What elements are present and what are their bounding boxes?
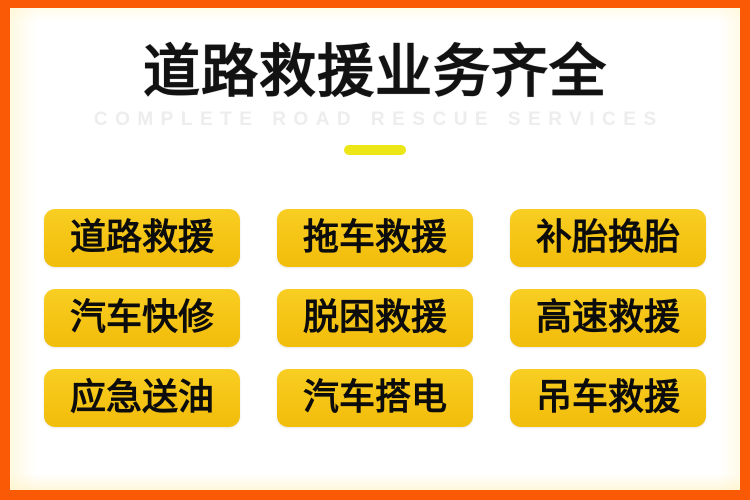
accent-bar	[344, 145, 406, 155]
service-button-label: 拖车救援	[303, 218, 447, 258]
header-block: 道路救援业务齐全 COMPLETE ROAD RESCUE SERVICES	[10, 8, 740, 155]
service-button-label: 道路救援	[70, 218, 214, 258]
service-button-highway-rescue[interactable]: 高速救援	[510, 289, 706, 347]
service-button-label: 汽车快修	[70, 298, 214, 338]
service-button-emergency-fuel-delivery[interactable]: 应急送油	[44, 369, 240, 427]
service-button-road-rescue[interactable]: 道路救援	[44, 209, 240, 267]
poster-canvas: 道路救援业务齐全 COMPLETE ROAD RESCUE SERVICES 道…	[10, 8, 740, 490]
service-button-tow-rescue[interactable]: 拖车救援	[277, 209, 473, 267]
page-subtitle: COMPLETE ROAD RESCUE SERVICES	[10, 109, 740, 131]
service-button-label: 补胎换胎	[536, 218, 680, 258]
service-button-label: 吊车救援	[536, 378, 680, 418]
service-button-crane-rescue[interactable]: 吊车救援	[510, 369, 706, 427]
service-button-label: 汽车搭电	[303, 378, 447, 418]
page-title: 道路救援业务齐全	[10, 41, 740, 103]
service-button-tire-repair-replace[interactable]: 补胎换胎	[510, 209, 706, 267]
service-button-grid: 道路救援 拖车救援 补胎换胎 汽车快修 脱困救援 高速救援 应急送油 汽车搭电	[44, 209, 706, 427]
service-button-jump-start[interactable]: 汽车搭电	[277, 369, 473, 427]
service-button-label: 应急送油	[70, 378, 214, 418]
service-button-label: 脱困救援	[303, 298, 447, 338]
service-button-quick-car-repair[interactable]: 汽车快修	[44, 289, 240, 347]
service-button-extrication-rescue[interactable]: 脱困救援	[277, 289, 473, 347]
poster-frame: 道路救援业务齐全 COMPLETE ROAD RESCUE SERVICES 道…	[0, 0, 750, 500]
service-button-label: 高速救援	[536, 298, 680, 338]
